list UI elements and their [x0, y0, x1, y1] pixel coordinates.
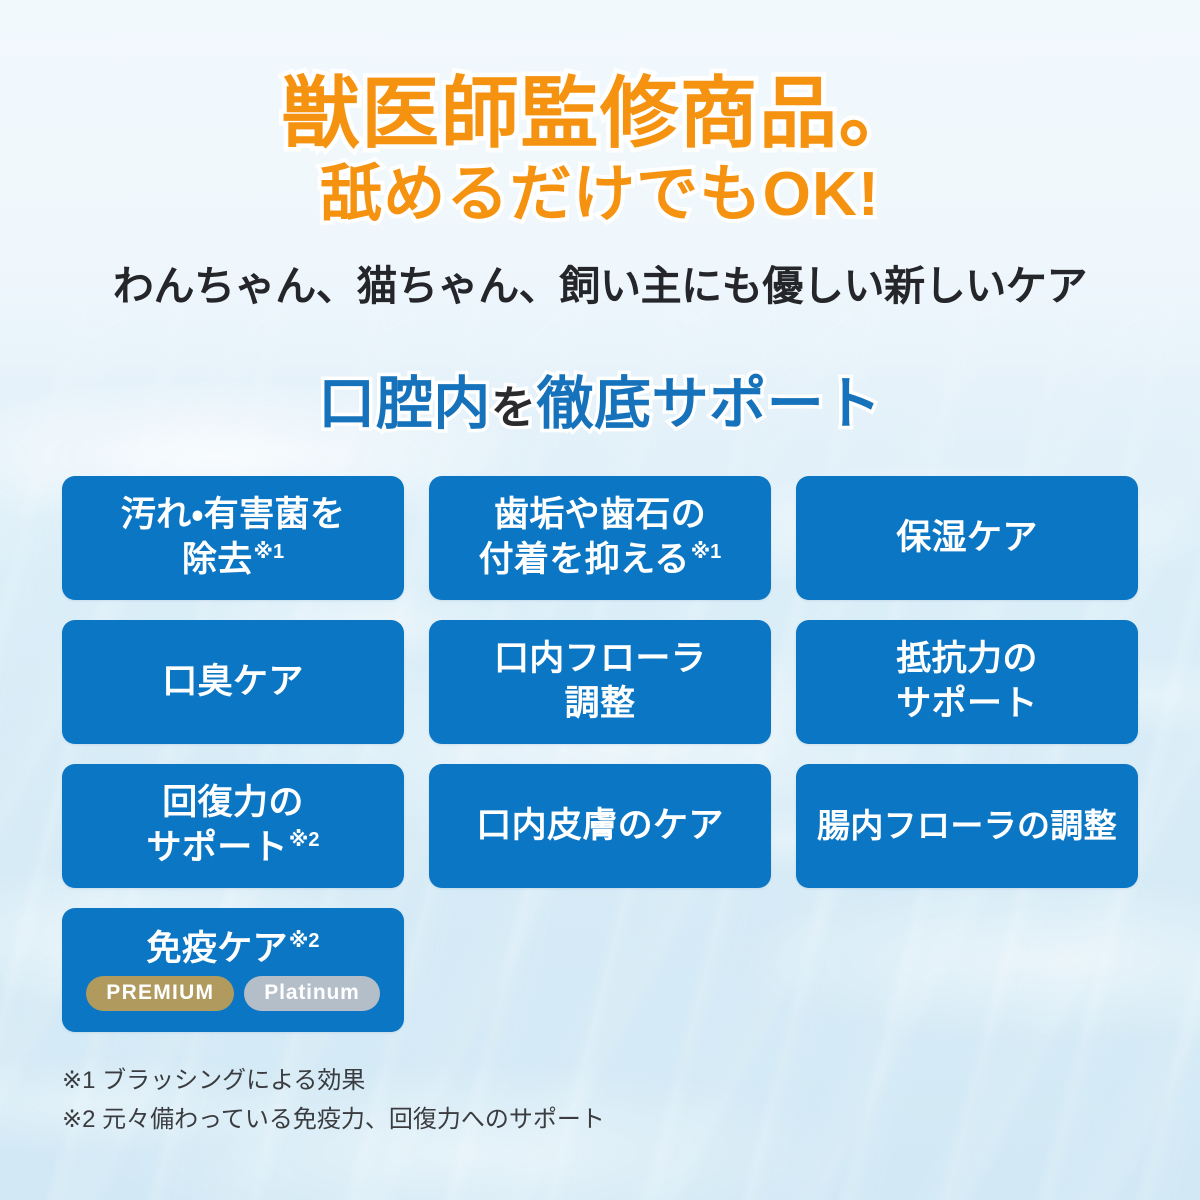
card-line-1: 汚れ・有害菌を: [121, 495, 345, 534]
badge-group: PREMIUM Platinum: [86, 976, 379, 1011]
headline-block: 獣医師監修商品。 舐めるだけでもOK!: [0, 0, 1200, 226]
card-footnote-marker: ※1: [691, 541, 722, 563]
card-text: 抵抗力のサポート: [896, 637, 1037, 727]
section-title: 口腔内を徹底サポート: [0, 358, 1200, 440]
badge-platinum: Platinum: [244, 976, 379, 1011]
card-line-1: 回復力の: [162, 783, 303, 822]
footnotes-block: ※1 ブラッシングによる効果 ※2 元々備わっている免疫力、回復力へのサポート: [62, 1062, 1138, 1140]
headline-line-2: 舐めるだけでもOK!: [0, 164, 1200, 226]
benefit-card-oral-skin-care[interactable]: 口内皮膚のケア: [429, 764, 771, 888]
benefit-card-gut-flora-balance[interactable]: 腸内フローラの調整: [796, 764, 1138, 888]
card-line-1: 抵抗力の: [896, 639, 1037, 678]
benefit-card-recovery-support[interactable]: 回復力のサポート※2: [62, 764, 404, 888]
card-line-1: 口内フローラ: [494, 639, 706, 678]
card-line-2: サポート: [147, 828, 288, 867]
infographic-canvas: 獣医師監修商品。 舐めるだけでもOK! わんちゃん、猫ちゃん、飼い主にも優しい新…: [0, 0, 1200, 1200]
benefit-card-prevent-tartar[interactable]: 歯垢や歯石の付着を抑える※1: [429, 476, 771, 600]
subheading: わんちゃん、猫ちゃん、飼い主にも優しい新しいケア: [0, 252, 1200, 312]
card-text: 免疫ケア※2: [147, 931, 320, 966]
card-text: 口内皮膚のケア: [476, 804, 723, 849]
section-title-particle: を: [491, 382, 537, 433]
benefit-card-grid: 汚れ・有害菌を除去※1 歯垢や歯石の付着を抑える※1 保湿ケア 口臭ケア 口内フ…: [62, 476, 1138, 1032]
card-text: 口臭ケア: [162, 660, 303, 705]
card-text: 保湿ケア: [896, 516, 1037, 561]
section-title-part-1: 口腔内: [318, 372, 491, 436]
card-footnote-marker: ※2: [289, 829, 320, 851]
footnote-2: ※2 元々備わっている免疫力、回復力へのサポート: [62, 1101, 1138, 1140]
content-wrapper: 獣医師監修商品。 舐めるだけでもOK! わんちゃん、猫ちゃん、飼い主にも優しい新…: [0, 0, 1200, 1140]
card-text: 回復力のサポート※2: [147, 781, 320, 871]
benefit-card-oral-flora-balance[interactable]: 口内フローラ調整: [429, 620, 771, 744]
section-title-part-2: 徹底サポート: [536, 372, 881, 436]
card-footnote-marker: ※1: [254, 541, 285, 563]
card-line-2: 付着を抑える: [479, 540, 690, 579]
card-line-2: 調整: [565, 684, 636, 723]
card-line-2: サポート: [896, 684, 1037, 723]
card-text: 腸内フローラの調整: [817, 805, 1117, 847]
footnote-1: ※1 ブラッシングによる効果: [62, 1062, 1138, 1101]
badge-premium: PREMIUM: [86, 976, 234, 1011]
benefit-card-immune-care[interactable]: 免疫ケア※2 PREMIUM Platinum: [62, 908, 404, 1032]
benefit-card-moisture-care[interactable]: 保湿ケア: [796, 476, 1138, 600]
headline-line-1: 獣医師監修商品。: [0, 74, 1200, 152]
benefit-card-breath-care[interactable]: 口臭ケア: [62, 620, 404, 744]
benefit-card-remove-plaque-bacteria[interactable]: 汚れ・有害菌を除去※1: [62, 476, 404, 600]
card-line-2: 除去: [182, 540, 253, 579]
card-line-1: 免疫ケア: [147, 929, 288, 968]
card-text: 歯垢や歯石の付着を抑える※1: [479, 493, 722, 583]
card-text: 口内フローラ調整: [494, 637, 706, 727]
card-line-1: 歯垢や歯石の: [494, 495, 706, 534]
card-text: 汚れ・有害菌を除去※1: [121, 493, 345, 583]
card-footnote-marker: ※2: [289, 930, 320, 952]
benefit-card-resistance-support[interactable]: 抵抗力のサポート: [796, 620, 1138, 744]
